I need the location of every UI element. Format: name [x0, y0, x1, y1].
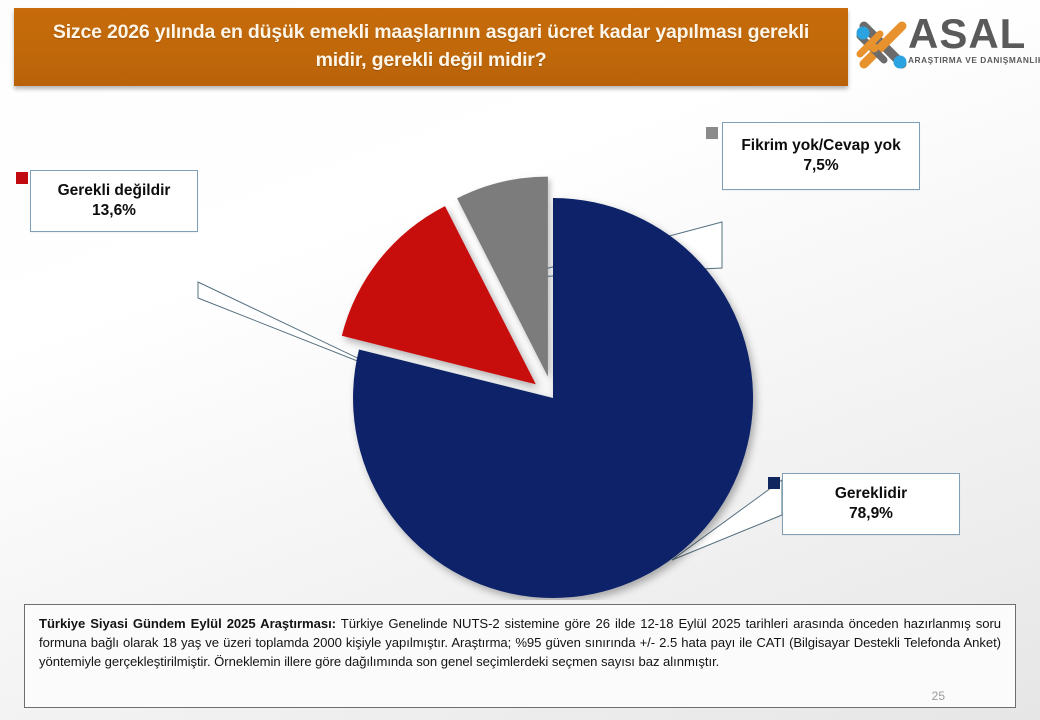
label-title-fikrim-yok: Fikrim yok/Cevap yok [741, 136, 900, 156]
methodology-footer: Türkiye Siyasi Gündem Eylül 2025 Araştır… [24, 604, 1016, 708]
label-value-gereklidir: 78,9% [849, 504, 893, 524]
label-title-gereklidir: Gereklidir [835, 484, 907, 504]
asal-x-logo-icon [854, 18, 910, 72]
label-box-gereklidir[interactable]: Gereklidir 78,9% [782, 473, 960, 535]
methodology-lead: Türkiye Siyasi Gündem Eylül 2025 Araştır… [39, 616, 336, 631]
label-value-fikrim-yok: 7,5% [803, 156, 838, 176]
logo-name: ASAL [908, 14, 1034, 54]
label-box-fikrim-yok[interactable]: Fikrim yok/Cevap yok 7,5% [722, 122, 920, 190]
page-number: 25 [932, 689, 945, 703]
legend-marker-gereklidir [768, 477, 780, 489]
logo-text: ASAL ARAŞTIRMA VE DANIŞMANLIK [908, 14, 1034, 65]
logo-subtitle: ARAŞTIRMA VE DANIŞMANLIK [908, 55, 1034, 65]
page-title: Sizce 2026 yılında en düşük emekli maaşl… [14, 19, 848, 74]
label-value-gerekli-degildir: 13,6% [92, 201, 136, 221]
legend-marker-fikrim-yok [706, 127, 718, 139]
header-banner: Sizce 2026 yılında en düşük emekli maaşl… [14, 8, 848, 86]
legend-marker-gerekli-degildir [16, 172, 28, 184]
methodology-text: Türkiye Siyasi Gündem Eylül 2025 Araştır… [39, 614, 1001, 672]
label-title-gerekli-degildir: Gerekli değildir [58, 181, 171, 201]
label-box-gerekli-degildir[interactable]: Gerekli değildir 13,6% [30, 170, 198, 232]
asal-logo: ASAL ARAŞTIRMA VE DANIŞMANLIK [852, 6, 1034, 80]
